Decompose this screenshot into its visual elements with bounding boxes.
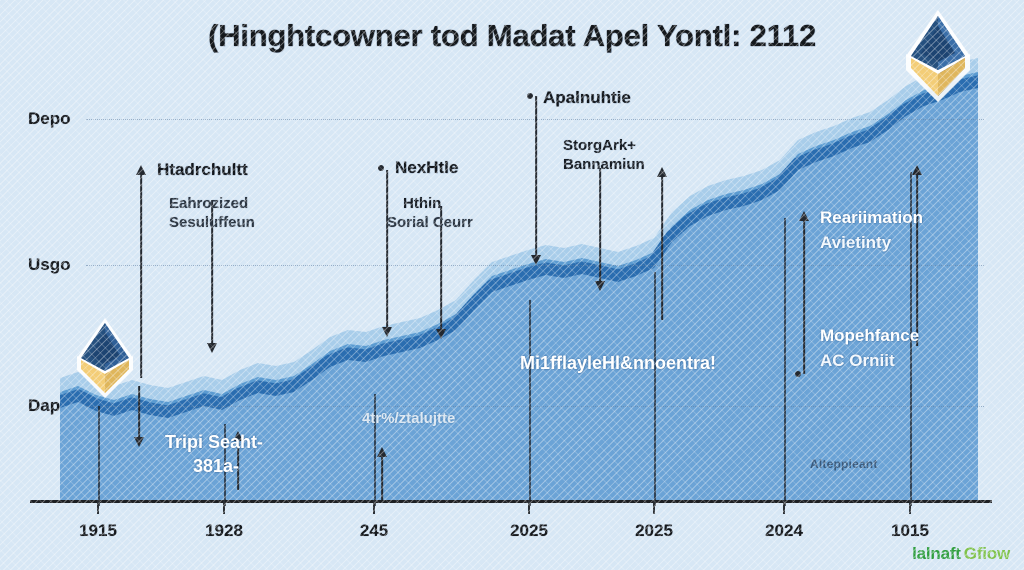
annotation-3-sub1: StorgArk+ [563, 136, 645, 155]
chart-title: (Hinghtcowner tod Madat Apel Yontl: 2112 [0, 18, 1024, 54]
inline-label-center: Mi1fflayleHl&nnoentra! [520, 353, 716, 374]
x-tick-mark-6 [783, 500, 785, 514]
annotation-arrow-3c [656, 168, 668, 320]
area-chart-svg [0, 0, 1024, 570]
annotation-2-sub2: Sorial Ceurr [387, 213, 473, 232]
x-tick-mark-7 [909, 500, 911, 514]
inline-label-faint-mid: 4tr%/ztalujtte [362, 410, 455, 427]
annotation-1-sub2: Sesuluffeun [169, 213, 255, 232]
x-tick-mark-5 [653, 500, 655, 514]
x-tick-label-7: 1015 [891, 521, 929, 541]
annotation-1-sub1: Eahrozized [169, 194, 255, 213]
y-axis-label-usgo: Usgo [28, 255, 71, 275]
inline-label-lower-2: 381a- [193, 456, 239, 477]
annotation-4-head: Reariimation [820, 208, 923, 228]
annotation-3-head: Apalnuhtie [543, 88, 645, 108]
gridline-usgo [86, 265, 984, 266]
annotation-arrow-3 [530, 96, 542, 264]
annotation-dot-4 [795, 371, 801, 377]
x-tick-label-4: 2025 [510, 521, 548, 541]
x-tick-mark-4 [528, 500, 530, 514]
x-axis-line [30, 500, 992, 503]
x-tick-label-6: 2024 [765, 521, 803, 541]
annotation-2-sub1: Hthin [403, 194, 473, 213]
plot-vline-1 [98, 406, 100, 506]
annotation-arrow-8 [376, 448, 388, 500]
x-tick-mark-2 [223, 500, 225, 514]
annotation-5-head: Mopehfance [820, 326, 919, 346]
ethereum-diamond-icon-left [72, 316, 138, 402]
annotation-block-4: Reariimation Avietinty [820, 208, 923, 254]
inline-label-faint-dark: Alteppieant [810, 457, 878, 471]
y-axis-label-depo: Depo [28, 109, 71, 129]
annotation-block-5: Mopehfance AC Orniit [820, 326, 919, 372]
inline-label-lower-1: Tripi Seaht- [165, 432, 263, 453]
annotation-4-sub1: Avietinty [820, 232, 923, 254]
annotation-1-head: Htadrchultt [157, 160, 255, 180]
y-axis-label-dap: Dap [28, 396, 60, 416]
watermark-part-1: lalnaft [912, 544, 961, 563]
x-tick-mark-1 [97, 500, 99, 514]
annotation-block-3: Apalnuhtie StorgArk+ Bannamiun [543, 88, 645, 174]
watermark-part-2: Gfiow [964, 544, 1010, 563]
annotation-5-sub1: AC Orniit [820, 350, 919, 372]
annotation-arrow-2 [381, 170, 393, 336]
annotation-2-head: NexHtle [395, 158, 473, 178]
annotation-3-sub2: Bannamiun [563, 155, 645, 174]
annotation-arrow-4 [798, 212, 810, 374]
gridline-dap [86, 406, 984, 407]
annotation-arrow-3b [594, 168, 606, 290]
plot-area [0, 0, 1024, 570]
annotation-dot-3 [527, 93, 533, 99]
chart-canvas: Depo Usgo Dap 1915 1928 245 2025 2025 20… [0, 0, 1024, 570]
x-tick-label-5: 2025 [635, 521, 673, 541]
plot-vline-6 [784, 218, 786, 506]
annotation-block-1: Htadrchultt Eahrozized Sesuluffeun [157, 160, 255, 232]
annotation-block-2: NexHtle Hthin Sorial Ceurr [395, 158, 473, 232]
x-tick-label-2: 1928 [205, 521, 243, 541]
x-tick-label-3: 245 [360, 521, 388, 541]
annotation-dot-2 [378, 165, 384, 171]
plot-vline-4 [529, 300, 531, 506]
watermark: lalnaftGfiow [912, 544, 1010, 564]
x-tick-label-1: 1915 [79, 521, 117, 541]
annotation-arrow-5 [911, 166, 923, 346]
x-tick-mark-3 [373, 500, 375, 514]
